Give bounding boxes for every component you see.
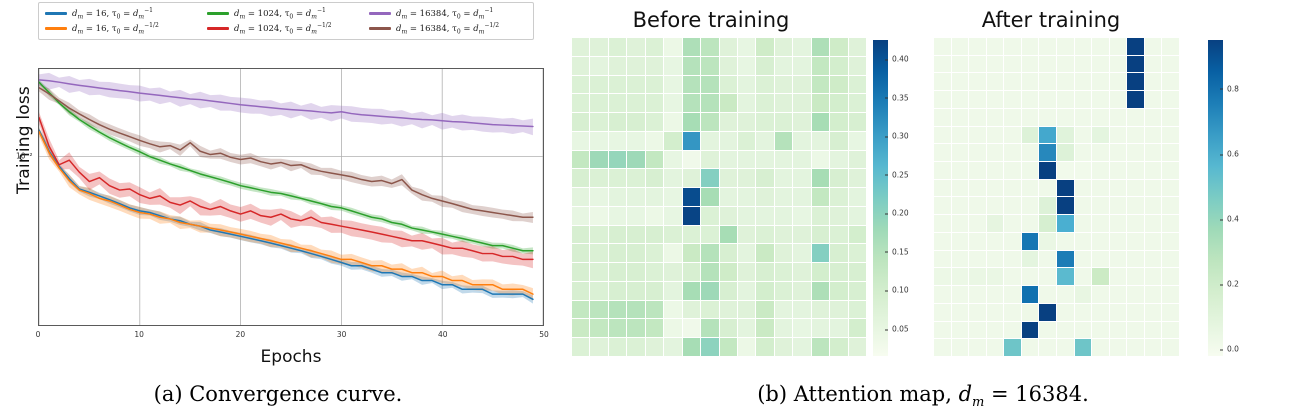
heatmap-cell — [952, 233, 969, 250]
heatmap-cell — [683, 244, 700, 262]
heatmap-cell — [775, 263, 792, 281]
heatmap-cell — [1127, 286, 1144, 303]
heatmap-cell — [1022, 73, 1039, 90]
heatmap-cell — [664, 113, 681, 131]
heatmap-cell — [1127, 109, 1144, 126]
heatmap-cell — [1039, 197, 1056, 214]
heatmap-cell — [720, 169, 737, 187]
heatmap-cell — [609, 132, 626, 150]
heatmap-cell — [1092, 109, 1109, 126]
legend-label: dm = 16384, τ0 = dm−1 — [396, 7, 493, 21]
heatmap-cell — [664, 38, 681, 56]
heatmap-cell — [646, 169, 663, 187]
heatmap-cell — [934, 304, 951, 321]
heatmap-cell — [952, 339, 969, 356]
heatmap-cell — [590, 244, 607, 262]
heatmap-cell — [683, 94, 700, 112]
heatmap-cell — [1039, 144, 1056, 161]
heatmap-cell — [609, 38, 626, 56]
heatmap-cell — [756, 113, 773, 131]
heatmap-cell — [1162, 251, 1179, 268]
legend-entry[interactable]: dm = 16384, τ0 = dm−1/2 — [369, 21, 527, 36]
heatmap-cell — [1092, 339, 1109, 356]
heatmap-cell — [572, 113, 589, 131]
heatmap-cell — [934, 286, 951, 303]
heatmap-cell — [1127, 251, 1144, 268]
caption-b-post: = 16384. — [984, 382, 1088, 406]
heatmap-cell — [646, 301, 663, 319]
heatmap-cell — [738, 57, 755, 75]
heatmap-cell — [590, 319, 607, 337]
heatmap-cell — [987, 180, 1004, 197]
legend-entry[interactable]: dm = 16, τ0 = dm−1 — [45, 6, 203, 21]
heatmap-cell — [590, 263, 607, 281]
heatmap-cell — [609, 207, 626, 225]
heatmap-cell — [1092, 233, 1109, 250]
colorbar-before-gradient — [873, 40, 888, 356]
heatmap-cell — [738, 38, 755, 56]
colorbar-before: 0.050.100.150.200.250.300.350.40 — [873, 40, 888, 356]
heatmap-cell — [664, 94, 681, 112]
heatmap-cell — [646, 226, 663, 244]
heatmap-cell — [1039, 73, 1056, 90]
heatmap-cell — [987, 109, 1004, 126]
heatmap-cell — [849, 282, 866, 300]
heatmap-cell — [1057, 197, 1074, 214]
heatmap-cell — [987, 268, 1004, 285]
heatmap-cell — [683, 207, 700, 225]
heatmap-cell — [812, 94, 829, 112]
heatmap-cell — [646, 76, 663, 94]
x-tick-label: 30 — [337, 330, 347, 339]
colorbar-tick-label: 0.4 — [1223, 215, 1239, 224]
heatmap-cell — [830, 319, 847, 337]
heatmap-cell — [1075, 339, 1092, 356]
heatmap-cell — [1022, 162, 1039, 179]
heatmap-cell — [1092, 38, 1109, 55]
heatmap-title-before: Before training — [556, 8, 866, 32]
heatmap-cell — [1057, 109, 1074, 126]
heatmap-cell — [1162, 127, 1179, 144]
heatmap-cell — [793, 263, 810, 281]
heatmap-cell — [701, 132, 718, 150]
heatmap-cell — [1057, 215, 1074, 232]
heatmap-cell — [1162, 109, 1179, 126]
heatmap-cell — [1092, 286, 1109, 303]
heatmap-cell — [1057, 268, 1074, 285]
heatmap-cell — [1004, 162, 1021, 179]
heatmap-cell — [664, 151, 681, 169]
heatmap-cell — [720, 188, 737, 206]
heatmap-cell — [849, 57, 866, 75]
heatmap-cell — [830, 282, 847, 300]
heatmap-cell — [701, 169, 718, 187]
heatmap-cell — [590, 151, 607, 169]
heatmap-cell — [1127, 197, 1144, 214]
heatmap-cell — [701, 38, 718, 56]
heatmap-cell — [1127, 91, 1144, 108]
heatmap-cell — [1075, 268, 1092, 285]
heatmap-cell — [646, 57, 663, 75]
heatmap-cell — [934, 251, 951, 268]
heatmap-cell — [793, 338, 810, 356]
heatmap-cell — [1145, 56, 1162, 73]
heatmap-cell — [775, 207, 792, 225]
heatmap-cell — [572, 76, 589, 94]
heatmap-cell — [812, 226, 829, 244]
heatmap-cell — [1004, 322, 1021, 339]
heatmap-cell — [775, 282, 792, 300]
heatmap-cell — [1092, 251, 1109, 268]
heatmap-cell — [1127, 322, 1144, 339]
heatmap-cell — [812, 38, 829, 56]
heatmap-cell — [812, 244, 829, 262]
heatmap-cell — [1127, 127, 1144, 144]
heatmap-cell — [1127, 339, 1144, 356]
heatmap-cell — [1004, 144, 1021, 161]
heatmap-cell — [1075, 73, 1092, 90]
heatmap-cell — [664, 169, 681, 187]
heatmap-cell — [590, 57, 607, 75]
heatmap-cell — [1110, 339, 1127, 356]
heatmap-cell — [1022, 144, 1039, 161]
heatmap-cell — [701, 113, 718, 131]
colorbar-after: 0.00.20.40.60.8 — [1208, 40, 1223, 356]
heatmap-cell — [738, 113, 755, 131]
heatmap-cell — [1039, 109, 1056, 126]
heatmap-cell — [1057, 322, 1074, 339]
heatmap-cell — [849, 132, 866, 150]
heatmap-cell — [934, 233, 951, 250]
heatmap-cell — [812, 151, 829, 169]
heatmap-cell — [664, 57, 681, 75]
legend-entry[interactable]: dm = 16384, τ0 = dm−1 — [369, 6, 527, 21]
heatmap-cell — [609, 338, 626, 356]
heatmap-cell — [849, 207, 866, 225]
heatmap-cell — [1075, 215, 1092, 232]
heatmap-cell — [1127, 162, 1144, 179]
heatmap-cell — [793, 113, 810, 131]
heatmap-cell — [1039, 233, 1056, 250]
heatmap-cell — [969, 322, 986, 339]
heatmap-cell — [756, 76, 773, 94]
heatmap-cell — [1004, 251, 1021, 268]
heatmap-cell — [830, 263, 847, 281]
heatmap-cell — [969, 180, 986, 197]
heatmap-cell — [720, 76, 737, 94]
legend-label: dm = 16, τ0 = dm−1/2 — [72, 22, 159, 36]
heatmap-cell — [683, 38, 700, 56]
heatmap-cell — [720, 132, 737, 150]
heatmap-cell — [952, 197, 969, 214]
heatmap-cell — [987, 215, 1004, 232]
heatmap-cell — [1004, 286, 1021, 303]
heatmap-cell — [590, 132, 607, 150]
colorbar-tick-label: 0.15 — [888, 247, 909, 256]
heatmap-cell — [609, 113, 626, 131]
heatmap-cell — [646, 282, 663, 300]
heatmap-cell — [646, 188, 663, 206]
heatmap-cell — [572, 282, 589, 300]
heatmap-cell — [1022, 322, 1039, 339]
legend-label: dm = 16, τ0 = dm−1 — [72, 7, 153, 21]
heatmap-cell — [1022, 304, 1039, 321]
heatmap-cell — [812, 57, 829, 75]
heatmap-cell — [969, 162, 986, 179]
heatmap-cell — [572, 244, 589, 262]
heatmap-cell — [775, 301, 792, 319]
legend-entry[interactable]: dm = 1024, τ0 = dm−1 — [207, 6, 365, 21]
heatmap-cell — [738, 263, 755, 281]
heatmap-cell — [1039, 56, 1056, 73]
x-axis-label: Epochs — [38, 347, 544, 367]
heatmap-cell — [775, 226, 792, 244]
heatmap-cell — [1039, 268, 1056, 285]
x-tick-label: 0 — [36, 330, 41, 339]
heatmap-cell — [1039, 127, 1056, 144]
heatmap-cell — [664, 132, 681, 150]
heatmap-cell — [646, 319, 663, 337]
heatmap-cell — [720, 113, 737, 131]
heatmap-cell — [793, 188, 810, 206]
heatmap-cell — [1057, 180, 1074, 197]
heatmap-cell — [627, 113, 644, 131]
heatmap-cell — [849, 263, 866, 281]
heatmap-cell — [1145, 304, 1162, 321]
heatmap-cell — [756, 282, 773, 300]
heatmap-cell — [1145, 268, 1162, 285]
heatmap-cell — [738, 188, 755, 206]
heatmap-cell — [627, 244, 644, 262]
heatmap-cell — [683, 263, 700, 281]
heatmap-cell — [849, 188, 866, 206]
heatmap-cell — [969, 38, 986, 55]
legend-label: dm = 16384, τ0 = dm−1/2 — [396, 22, 499, 36]
caption-a: (a) Convergence curve. — [0, 382, 556, 406]
heatmap-cell — [1127, 144, 1144, 161]
heatmap-cell — [969, 197, 986, 214]
heatmap-cell — [969, 91, 986, 108]
heatmap-cell — [664, 263, 681, 281]
heatmap-cell — [1110, 127, 1127, 144]
colorbar-tick-label: 0.40 — [888, 55, 909, 64]
heatmap-cell — [1039, 162, 1056, 179]
heatmap-cell — [969, 109, 986, 126]
heatmap-cell — [1145, 162, 1162, 179]
heatmap-cell — [1162, 162, 1179, 179]
heatmap-cell — [793, 301, 810, 319]
x-tick-label: 20 — [236, 330, 246, 339]
heatmap-cell — [1057, 304, 1074, 321]
heatmap-cell — [756, 94, 773, 112]
heatmap-cell — [969, 127, 986, 144]
heatmap-cell — [664, 226, 681, 244]
heatmap-cell — [830, 301, 847, 319]
heatmap-cell — [812, 207, 829, 225]
heatmap-cell — [1145, 339, 1162, 356]
heatmap-cell — [830, 169, 847, 187]
heatmap-cell — [1110, 109, 1127, 126]
heatmap-cell — [1162, 73, 1179, 90]
heatmap-cell — [1022, 56, 1039, 73]
heatmap-cell — [683, 226, 700, 244]
heatmap-cell — [738, 169, 755, 187]
heatmap-cell — [830, 38, 847, 56]
heatmap-cell — [987, 251, 1004, 268]
legend-label: dm = 1024, τ0 = dm−1 — [234, 7, 326, 21]
heatmap-cell — [1110, 56, 1127, 73]
heatmap-cell — [849, 244, 866, 262]
heatmap-cell — [775, 151, 792, 169]
heatmap-cell — [1075, 197, 1092, 214]
heatmap-cell — [627, 188, 644, 206]
heatmap-cell — [756, 132, 773, 150]
heatmap-cell — [775, 132, 792, 150]
heatmap-cell — [738, 301, 755, 319]
heatmap-cell — [934, 180, 951, 197]
heatmap-cell — [1004, 215, 1021, 232]
heatmap-cell — [1092, 197, 1109, 214]
colorbar-tick-label: 0.25 — [888, 170, 909, 179]
heatmap-cell — [572, 338, 589, 356]
heatmap-cell — [969, 286, 986, 303]
heatmap-cell — [590, 188, 607, 206]
heatmap-cell — [683, 113, 700, 131]
heatmap-cell — [738, 282, 755, 300]
caption-a-text: (a) Convergence curve. — [154, 382, 403, 406]
heatmap-cell — [793, 76, 810, 94]
heatmap-cell — [830, 132, 847, 150]
heatmap-cell — [849, 338, 866, 356]
heatmap-cell — [738, 151, 755, 169]
heatmap-cell — [1004, 127, 1021, 144]
panel-attention-maps: Before training 0.050.100.150.200.250.30… — [556, 0, 1290, 418]
heatmap-cell — [830, 338, 847, 356]
heatmap-cell — [1075, 127, 1092, 144]
heatmap-cell — [646, 94, 663, 112]
heatmap-cell — [793, 207, 810, 225]
heatmap-cell — [572, 188, 589, 206]
heatmap-cell — [1145, 286, 1162, 303]
heatmap-cell — [1162, 91, 1179, 108]
heatmap-cell — [1004, 233, 1021, 250]
heatmap-cell — [775, 319, 792, 337]
heatmap-cell — [756, 263, 773, 281]
heatmap-cell — [1145, 322, 1162, 339]
legend-color-swatch — [207, 12, 229, 15]
heatmap-cell — [572, 38, 589, 56]
heatmap-cell — [952, 91, 969, 108]
heatmap-cell — [720, 38, 737, 56]
heatmap-cell — [934, 109, 951, 126]
heatmap-cell — [793, 282, 810, 300]
heatmap-cell — [627, 207, 644, 225]
heatmap-cell — [1057, 144, 1074, 161]
heatmap-cell — [987, 91, 1004, 108]
heatmap-cell — [738, 338, 755, 356]
heatmap-cell — [1004, 109, 1021, 126]
heatmap-cell — [683, 151, 700, 169]
heatmap-cell — [987, 73, 1004, 90]
heatmap-cell — [627, 151, 644, 169]
heatmap-cell — [609, 169, 626, 187]
heatmap-cell — [1110, 38, 1127, 55]
heatmap-cell — [627, 169, 644, 187]
heatmap-cell — [952, 180, 969, 197]
legend-entry[interactable]: dm = 16, τ0 = dm−1/2 — [45, 21, 203, 36]
heatmap-cell — [793, 226, 810, 244]
heatmap-cell — [934, 73, 951, 90]
heatmap-cell — [952, 215, 969, 232]
heatmap-cell — [646, 113, 663, 131]
heatmap-cell — [572, 132, 589, 150]
heatmap-cell — [1162, 339, 1179, 356]
chart-legend: dm = 16, τ0 = dm−1dm = 1024, τ0 = dm−1dm… — [38, 2, 534, 40]
heatmap-cell — [590, 169, 607, 187]
heatmap-cell — [775, 94, 792, 112]
heatmap-cell — [1039, 339, 1056, 356]
heatmap-cell — [793, 319, 810, 337]
heatmap-cell — [952, 144, 969, 161]
heatmap-cell — [1110, 91, 1127, 108]
heatmap-cell — [572, 94, 589, 112]
heatmap-cell — [775, 113, 792, 131]
heatmap-cell — [812, 282, 829, 300]
heatmap-cell — [701, 263, 718, 281]
heatmap-cell — [793, 94, 810, 112]
heatmap-cell — [1004, 73, 1021, 90]
heatmap-cell — [572, 301, 589, 319]
heatmap-title-after: After training — [926, 8, 1176, 32]
heatmap-cell — [969, 268, 986, 285]
heatmap-cell — [1092, 73, 1109, 90]
colorbar-tick-label: 0.6 — [1223, 150, 1239, 159]
heatmap-cell — [627, 301, 644, 319]
heatmap-cell — [1162, 233, 1179, 250]
heatmap-cell — [683, 319, 700, 337]
heatmap-cell — [1145, 251, 1162, 268]
heatmap-cell — [701, 244, 718, 262]
heatmap-cell — [934, 215, 951, 232]
heatmap-cell — [793, 169, 810, 187]
heatmap-cell — [701, 76, 718, 94]
heatmap-cell — [609, 301, 626, 319]
heatmap-cell — [590, 76, 607, 94]
legend-entry[interactable]: dm = 1024, τ0 = dm−1/2 — [207, 21, 365, 36]
heatmap-cell — [609, 282, 626, 300]
heatmap-cell — [609, 57, 626, 75]
heatmap-cell — [664, 188, 681, 206]
heatmap-cell — [590, 94, 607, 112]
heatmap-cell — [756, 301, 773, 319]
heatmap-cell — [1022, 197, 1039, 214]
heatmap-cell — [756, 226, 773, 244]
heatmap-cell — [987, 56, 1004, 73]
heatmap-cell — [627, 94, 644, 112]
heatmap-cell — [720, 282, 737, 300]
heatmap-cell — [756, 57, 773, 75]
heatmap-cell — [683, 301, 700, 319]
heatmap-cell — [1145, 38, 1162, 55]
caption-b: (b) Attention map, dm = 16384. — [556, 382, 1290, 410]
heatmap-cell — [1022, 127, 1039, 144]
heatmap-cell — [969, 56, 986, 73]
heatmap-cell — [952, 268, 969, 285]
heatmap-cell — [756, 207, 773, 225]
heatmap-cell — [646, 38, 663, 56]
heatmap-cell — [738, 244, 755, 262]
heatmap-cell — [720, 244, 737, 262]
